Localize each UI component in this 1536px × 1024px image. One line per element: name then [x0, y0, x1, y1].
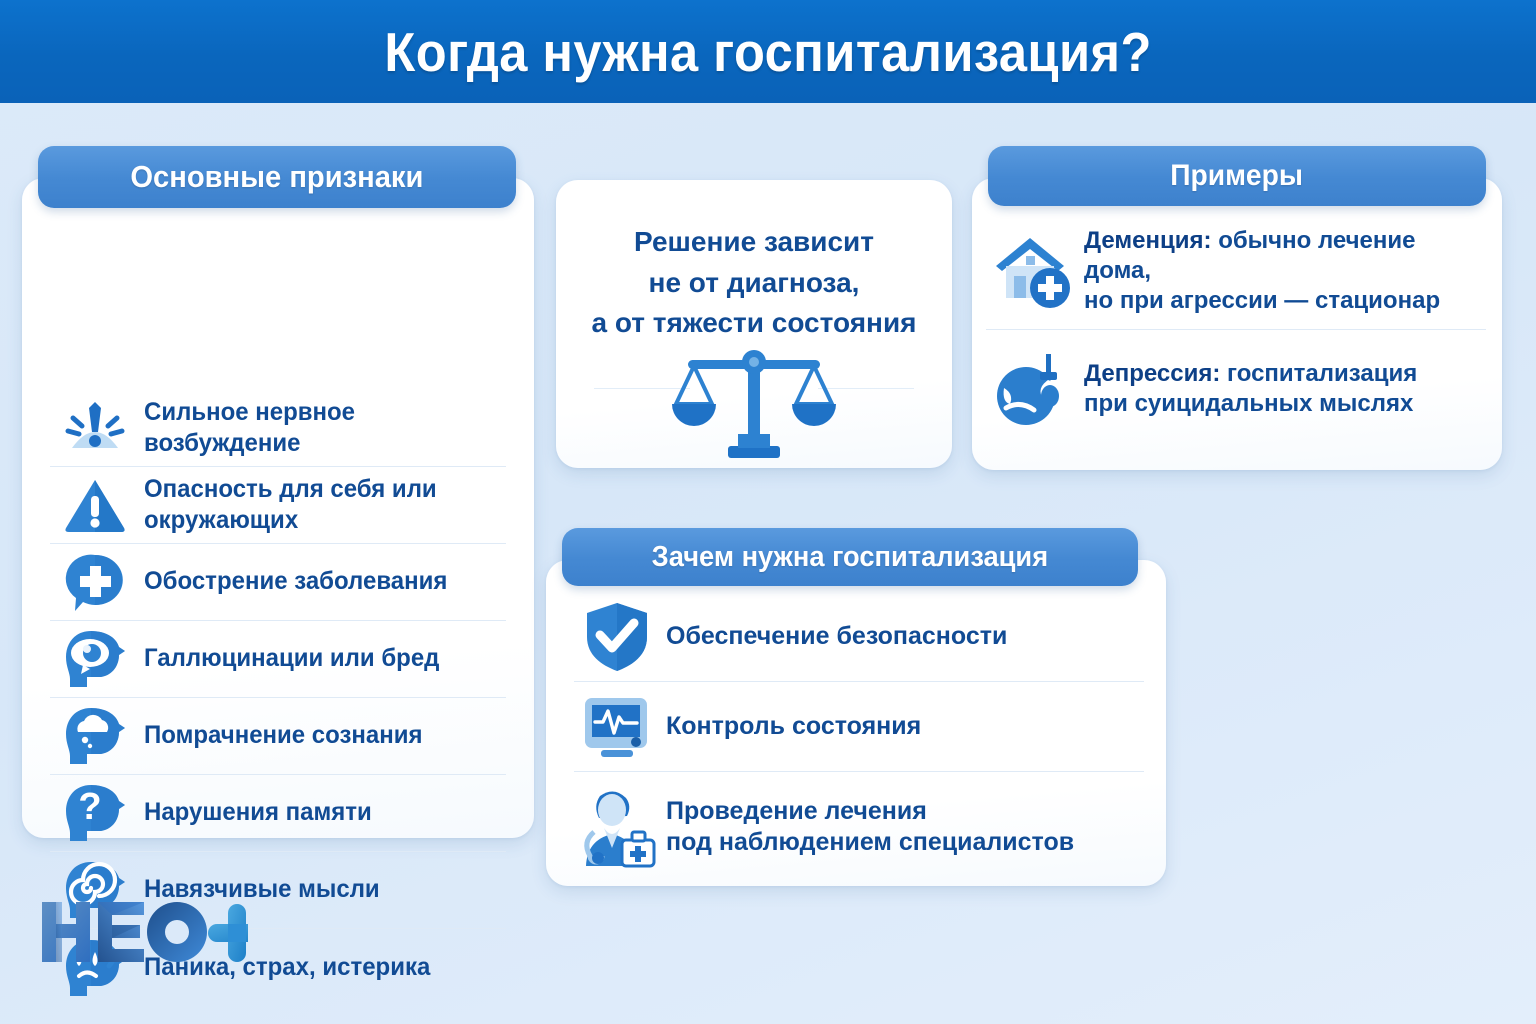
purpose-line-1: Проведение лечения: [666, 796, 1074, 827]
page-title: Когда нужна госпитализация?: [384, 20, 1152, 84]
decision-text: Решение зависит не от диагноза, а от тяж…: [556, 222, 952, 344]
list-item-label: Нарушения памяти: [144, 797, 372, 828]
list-item[interactable]: Сильное нервное возбуждение: [50, 390, 506, 467]
list-item-label: Депрессия: госпитализация при суицидальн…: [1084, 359, 1417, 419]
exclamation-burst-icon: [56, 395, 134, 461]
example-line-2: но при агрессии — стационар: [1084, 286, 1486, 316]
list-item-label: Проведение лечения под наблюдением специ…: [666, 796, 1074, 859]
ecg-monitor-icon: [574, 686, 660, 768]
list-item[interactable]: Проведение лечения под наблюдением специ…: [574, 772, 1144, 882]
warning-triangle-icon: [56, 472, 134, 538]
purpose-header-label: Зачем нужна госпитализация: [652, 541, 1048, 574]
list-item-label: Галлюцинации или бред: [144, 643, 439, 674]
purpose-header: Зачем нужна госпитализация: [562, 528, 1138, 586]
list-item[interactable]: Обеспечение безопасности: [574, 592, 1144, 682]
balance-scales-icon: [556, 342, 952, 460]
examples-header: Примеры: [988, 146, 1486, 206]
svg-text:?: ?: [78, 786, 101, 828]
decision-line-1: Решение зависит: [556, 222, 952, 263]
list-item[interactable]: ? Нарушения памяти: [50, 775, 506, 852]
list-item-label: Обострение заболевания: [144, 566, 447, 597]
decision-card: Решение зависит не от диагноза, а от тяж…: [556, 180, 952, 468]
list-item[interactable]: Деменция: обычно лечение дома, но при аг…: [986, 212, 1486, 330]
header-banner: Когда нужна госпитализация?: [0, 0, 1536, 103]
medical-cross-speech-icon: [56, 549, 134, 615]
list-item[interactable]: Помрачнение сознания: [50, 698, 506, 775]
list-item-label: Деменция: обычно лечение дома, но при аг…: [1084, 226, 1486, 316]
purpose-line-2: под наблюдением специалистов: [666, 827, 1074, 858]
decision-line-3: а от тяжести состояния: [556, 303, 952, 344]
example-lead: Деменция:: [1084, 227, 1212, 254]
list-item-label: Сильное нервное возбуждение: [144, 397, 492, 460]
main-signs-header: Основные признаки: [38, 146, 516, 208]
list-item[interactable]: Галлюцинации или бред: [50, 621, 506, 698]
list-item[interactable]: Контроль состояния: [574, 682, 1144, 772]
head-cloud-icon: [56, 703, 134, 769]
head-eye-icon: [56, 626, 134, 692]
list-item-label: Контроль состояния: [666, 711, 921, 742]
examples-header-label: Примеры: [1171, 159, 1304, 193]
list-item[interactable]: Опасность для себя или окружающих: [50, 467, 506, 544]
depression-noose-icon: [986, 339, 1078, 439]
head-question-icon: ?: [56, 780, 134, 846]
list-item[interactable]: Депрессия: госпитализация при суицидальн…: [986, 330, 1486, 448]
main-signs-header-label: Основные признаки: [130, 159, 423, 195]
home-care-icon: [986, 221, 1078, 321]
example-line-2: при суицидальных мыслях: [1084, 389, 1417, 419]
example-lead: Депрессия:: [1084, 360, 1220, 387]
examples-list: Деменция: обычно лечение дома, но при аг…: [986, 212, 1486, 448]
purpose-list: Обеспечение безопасности Контроль состоя…: [574, 592, 1144, 882]
logo-mark: [38, 896, 248, 968]
list-item-label: Помрачнение сознания: [144, 720, 423, 751]
shield-check-icon: [574, 596, 660, 678]
doctor-icon: [574, 786, 660, 868]
decision-line-2: не от диагноза,: [556, 263, 952, 304]
main-signs-card: Сильное нервное возбуждение Опасность дл…: [22, 178, 534, 838]
list-item-label: Опасность для себя или окружающих: [144, 474, 492, 537]
example-rest: госпитализация: [1220, 360, 1417, 387]
neo-plus-logo: [38, 896, 248, 968]
list-item-label: Обеспечение безопасности: [666, 621, 1007, 652]
list-item[interactable]: Обострение заболевания: [50, 544, 506, 621]
